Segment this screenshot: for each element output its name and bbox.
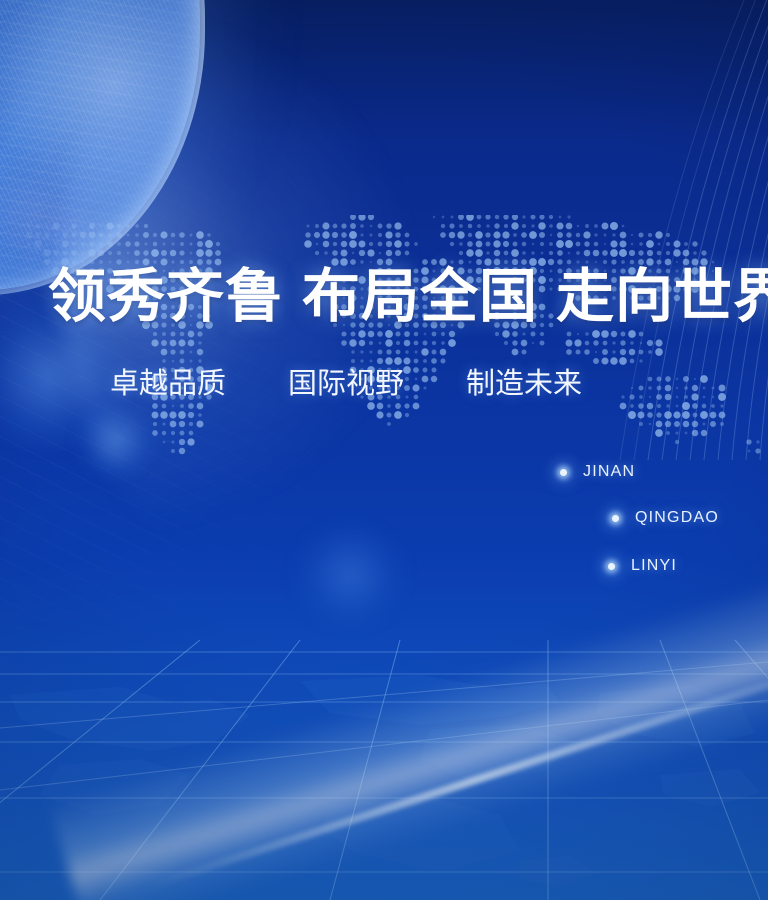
headline-part-1: 领秀齐鲁: [48, 264, 284, 329]
map-pin-icon: [560, 469, 567, 476]
map-marker-label: LINYI: [631, 557, 677, 575]
map-pin-icon: [612, 515, 619, 522]
light-rays: [0, 40, 660, 800]
page-title: 领秀齐鲁布局全国走向世界: [48, 268, 768, 326]
headline-part-3: 走向世界: [556, 264, 768, 329]
page-subtitle: 卓越品质国际视野制造未来: [110, 370, 582, 399]
subtitle-part-2: 国际视野: [288, 368, 404, 400]
map-marker-label: QINGDAO: [635, 509, 719, 527]
map-marker-label: JINAN: [583, 463, 635, 481]
headline-part-2: 布局全国: [302, 264, 538, 329]
subtitle-part-1: 卓越品质: [110, 368, 226, 400]
subtitle-part-3: 制造未来: [466, 368, 582, 400]
banner-stage: 领秀齐鲁布局全国走向世界 卓越品质国际视野制造未来 JINAN QINGDAO …: [0, 0, 768, 900]
map-pin-icon: [608, 563, 615, 570]
map-marker-linyi: LINYI: [608, 557, 677, 575]
map-marker-qingdao: QINGDAO: [612, 509, 719, 527]
map-marker-jinan: JINAN: [560, 463, 635, 481]
